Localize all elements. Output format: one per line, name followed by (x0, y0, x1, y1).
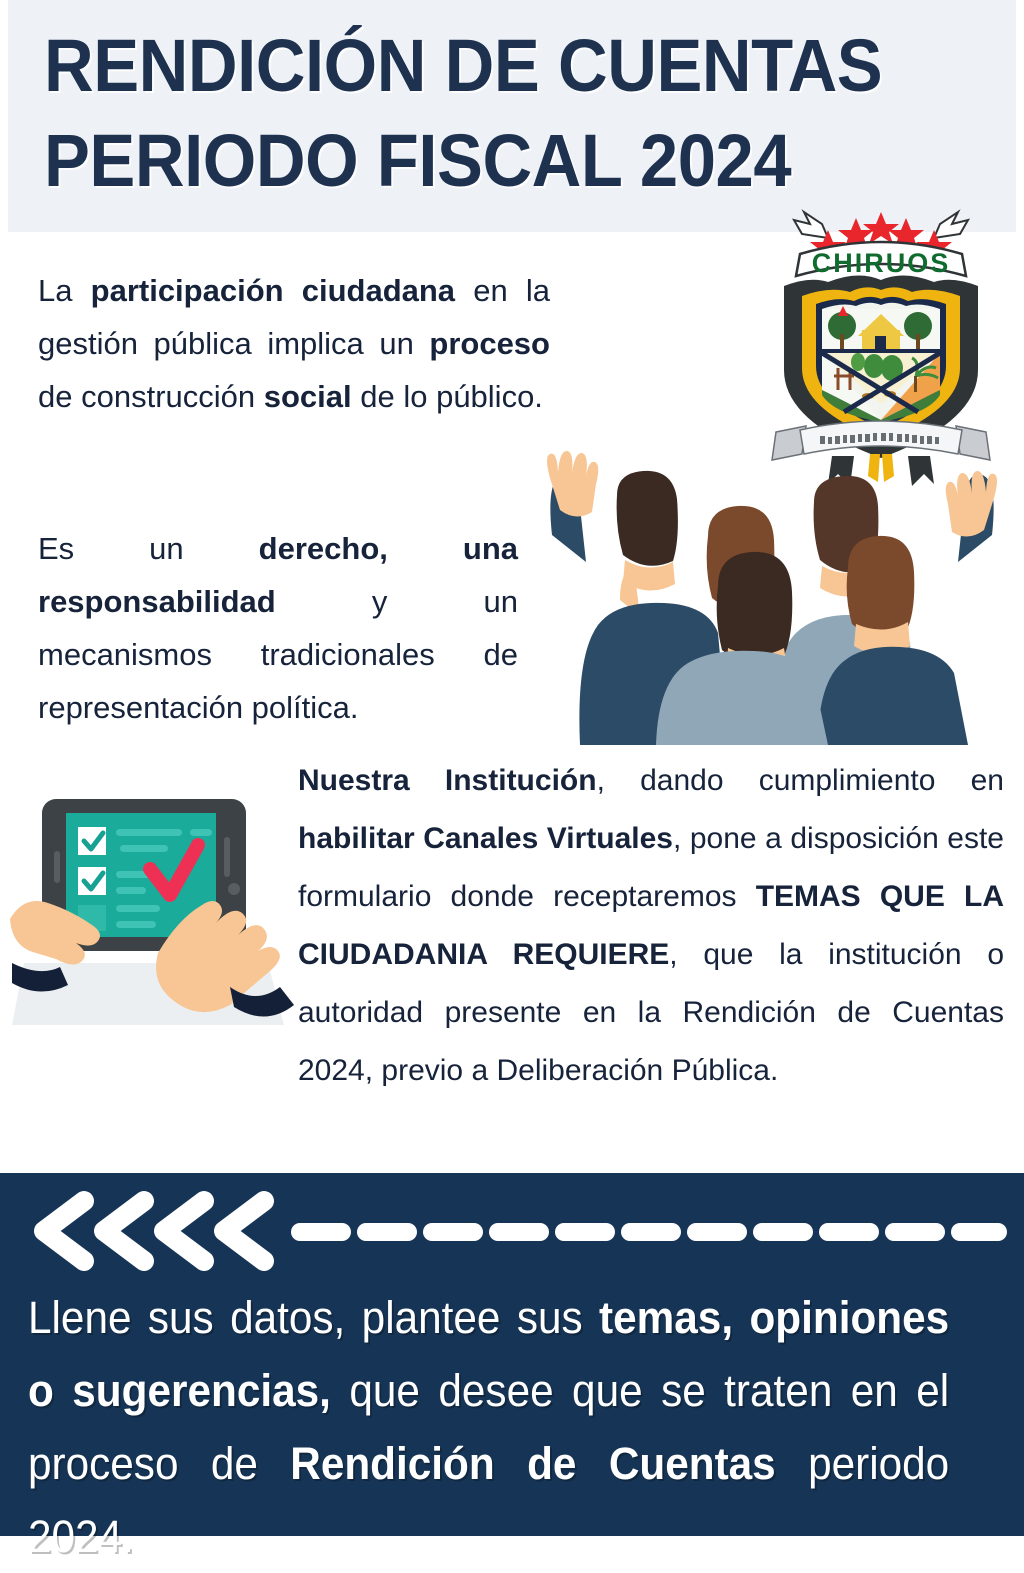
main-content-area: La participación ciudadana en la gestión… (0, 232, 1024, 1173)
raised-hands-crowd-illustration (522, 440, 1022, 745)
tablet-checklist-illustration (8, 777, 300, 1032)
paragraph-derecho: Es un derecho, una responsabilidad y un … (38, 522, 518, 734)
page-title: RENDICIÓN DE CUENTAS PERIODO FISCAL 2024 (44, 18, 900, 208)
paragraph-institucion: Nuestra Institución, dando cumplimiento … (298, 752, 1004, 1100)
paragraph-participacion: La participación ciudadana en la gestión… (38, 264, 550, 423)
footer-band: Llene sus datos, plantee sus temas, opin… (0, 1173, 1024, 1536)
footer-instruction-text: Llene sus datos, plantee sus temas, opin… (28, 1281, 949, 1573)
emblem-banner-text: CHIRUOS (812, 248, 951, 278)
chevron-left-icon (44, 1201, 264, 1261)
chevron-dash-divider (22, 1191, 1007, 1271)
